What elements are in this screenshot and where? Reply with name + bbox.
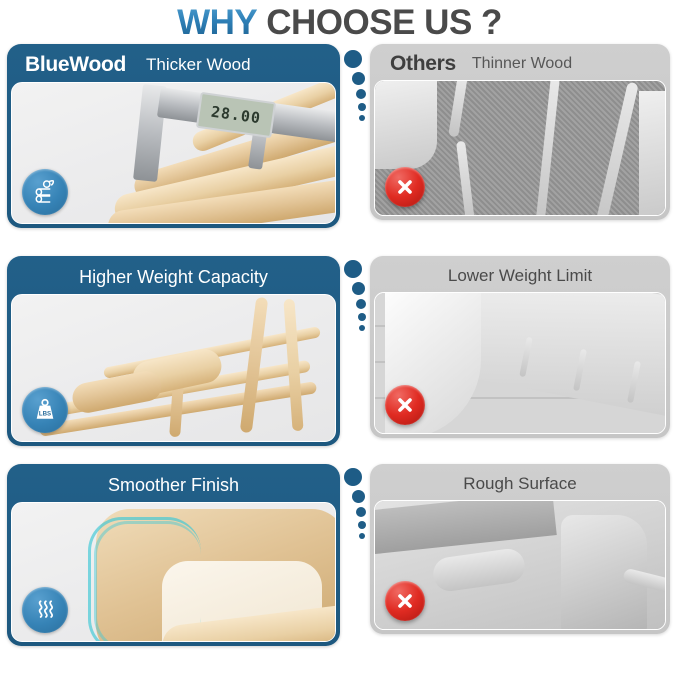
decor-dot [359,115,365,121]
red-x-icon [385,581,425,621]
feature-label: Thicker Wood [146,55,251,75]
product-photo-weight-capacity: LBS [11,294,336,442]
product-photo-weight-limit [374,292,666,434]
comparison-row: Higher Weight Capacity [0,256,679,464]
comparison-row: Smoother Finish [0,464,679,664]
bluewood-card-thicker-wood[interactable]: BlueWood Thicker Wood 28.00 [7,44,340,228]
card-header: BlueWood Thicker Wood [11,48,336,82]
smooth-waves-icon [22,587,68,633]
decor-dot [356,507,366,517]
product-photo-smoother-finish [11,502,336,642]
gray-panel [639,91,666,216]
others-card-thinner-wood[interactable]: Others Thinner Wood [370,44,670,220]
feature-label: Thinner Wood [472,55,572,73]
bluewood-card-weight-capacity[interactable]: Higher Weight Capacity [7,256,340,446]
decor-dot [358,313,366,321]
blue-dot-cluster [340,468,374,578]
bluewood-card-smoother-finish[interactable]: Smoother Finish [7,464,340,646]
page-title: WHY CHOOSE US ? [0,0,679,44]
others-card-weight-limit[interactable]: Lower Weight Limit [370,256,670,438]
decor-dot [344,260,362,278]
card-header: Lower Weight Limit [374,260,666,292]
weight-lbs-icon: LBS [22,387,68,433]
wood-leg [240,297,268,433]
red-x-icon [385,167,425,207]
comparison-rows: BlueWood Thicker Wood 28.00 [0,44,679,664]
svg-text:LBS: LBS [39,411,51,418]
product-photo-thinner-wood [374,80,666,216]
feature-label: Higher Weight Capacity [79,267,268,288]
feature-label: Smoother Finish [108,475,239,496]
card-header: Rough Surface [374,468,666,500]
red-x-icon [385,385,425,425]
feature-label: Rough Surface [463,474,576,494]
wood-logs-icon [22,169,68,215]
gray-panel [375,81,437,169]
brand-label: BlueWood [25,53,126,77]
decor-dot [359,325,365,331]
decor-dot [356,89,366,99]
decor-dot [358,103,366,111]
decor-dot [352,72,365,85]
blue-dot-cluster [340,50,374,160]
decor-dot [344,50,362,68]
product-photo-rough-surface [374,500,666,630]
card-header: Others Thinner Wood [374,48,666,80]
decor-dot [358,521,366,529]
decor-dot [352,490,365,503]
feature-label: Lower Weight Limit [448,266,592,286]
comparison-row: BlueWood Thicker Wood 28.00 [0,44,679,256]
product-photo-thicker-wood: 28.00 [11,82,336,224]
title-rest: CHOOSE US ? [266,3,502,43]
title-highlight: WHY [177,3,257,43]
card-header: Higher Weight Capacity [11,260,336,294]
blue-dot-cluster [340,260,374,370]
card-header: Smoother Finish [11,468,336,502]
others-card-rough-surface[interactable]: Rough Surface [370,464,670,634]
decor-dot [356,299,366,309]
decor-dot [352,282,365,295]
decor-dot [344,468,362,486]
decor-dot [359,533,365,539]
brand-label: Others [390,52,456,76]
